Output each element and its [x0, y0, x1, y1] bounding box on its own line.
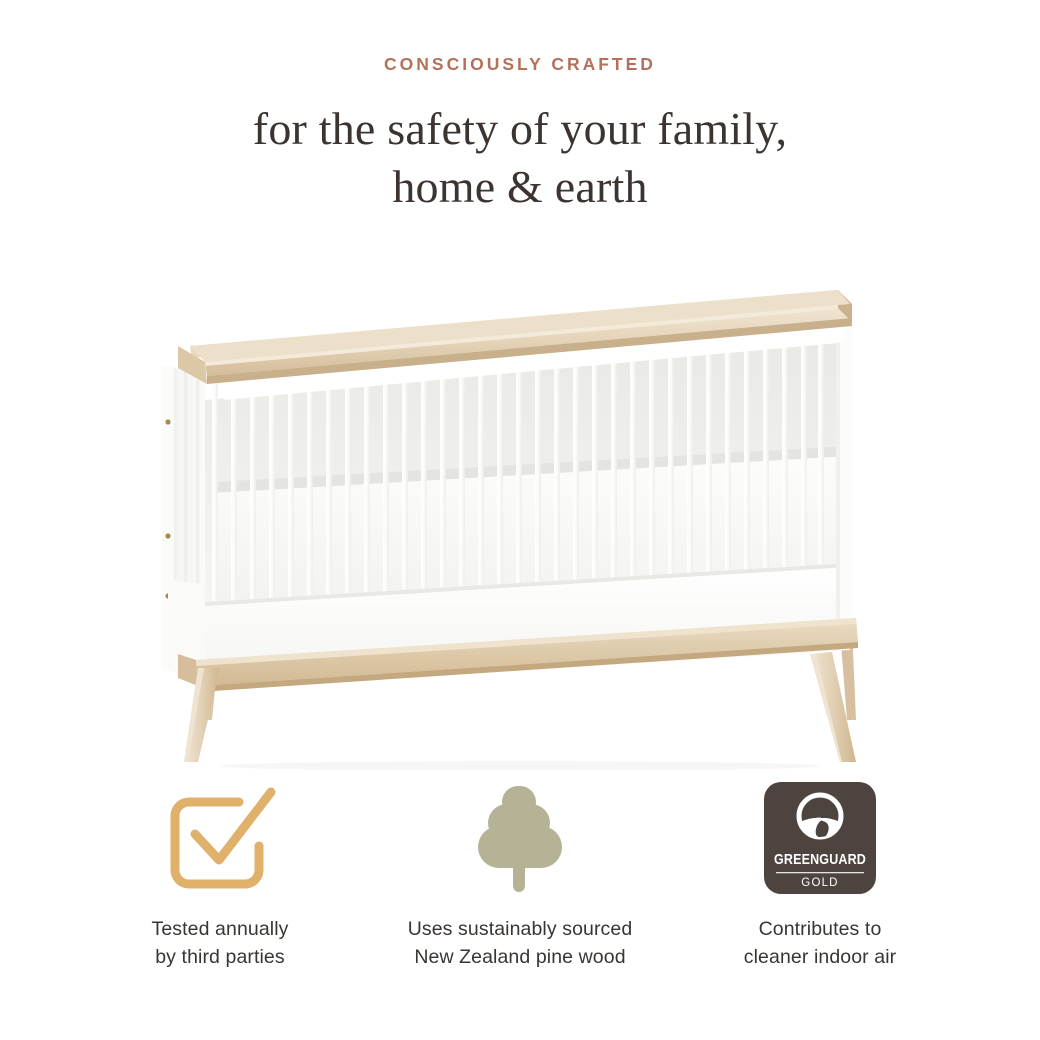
crib-right-post — [836, 313, 852, 650]
crib-illustration — [150, 250, 910, 770]
headline-line-2: home & earth — [0, 158, 1040, 217]
feature-caption-line-1: Contributes to — [759, 918, 882, 940]
page-title: for the safety of your family, home & ea… — [0, 100, 1040, 218]
brass-screw — [165, 419, 170, 424]
feature-caption-line-2: cleaner indoor air — [744, 944, 896, 972]
badge-level: GOLD — [801, 877, 838, 889]
badge-divider — [776, 872, 864, 873]
eyebrow-text: CONSCIOUSLY CRAFTED — [0, 56, 1040, 74]
header-block: CONSCIOUSLY CRAFTED for the safety of yo… — [0, 56, 1040, 217]
marketing-banner: CONSCIOUSLY CRAFTED for the safety of yo… — [0, 0, 1040, 1040]
badge-title: GREENGUARD — [774, 851, 866, 868]
svg-text:UL: UL — [808, 802, 832, 822]
product-image — [150, 250, 910, 770]
feature-icon-container: UL GREENGUARD GOLD — [764, 775, 876, 900]
headline-line-1: for the safety of your family, — [253, 103, 787, 154]
brass-screw — [165, 533, 170, 538]
feature-caption-line-1: Uses sustainably sourced — [408, 918, 633, 940]
feature-caption-line-2: New Zealand pine wood — [408, 944, 633, 972]
feature-icon-container — [161, 775, 279, 900]
feature-icon-container — [474, 775, 566, 900]
feature-item-tested-annually: Tested annually by third parties — [70, 775, 370, 971]
feature-item-sustainable-wood: Uses sustainably sourced New Zealand pin… — [370, 775, 670, 971]
feature-caption: Uses sustainably sourced New Zealand pin… — [408, 916, 633, 971]
feature-caption: Contributes to cleaner indoor air — [744, 916, 896, 971]
feature-list: Tested annually by third parties — [0, 775, 1040, 971]
tree-icon — [474, 782, 566, 894]
feature-item-greenguard-gold: UL GREENGUARD GOLD Contributes to cleane… — [670, 775, 970, 971]
checkbox-check-icon — [161, 784, 279, 892]
feature-caption-line-2: by third parties — [151, 944, 288, 972]
greenguard-gold-badge-icon: UL GREENGUARD GOLD — [764, 782, 876, 894]
feature-caption-line-1: Tested annually — [151, 918, 288, 940]
feature-caption: Tested annually by third parties — [151, 916, 288, 971]
